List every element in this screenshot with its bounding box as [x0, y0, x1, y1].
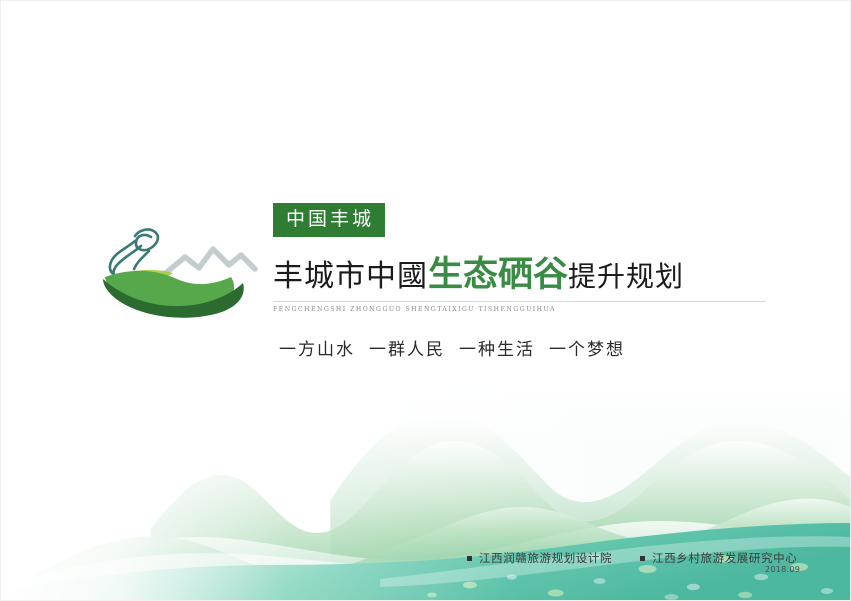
credit-label-2: 江西乡村旅游发展研究中心: [652, 550, 797, 566]
title-block: 中国丰城 丰城市中國生态硒谷提升规划 FENGCHENGSHI ZHONGGUO…: [273, 203, 773, 313]
tagline-item-1: 一方山水: [279, 340, 355, 360]
credit-label-1: 江西润赣旅游规划设计院: [479, 550, 612, 566]
title-pinyin: FENGCHENGSHI ZHONGGUO SHENGTAIXIGU TISHE…: [273, 306, 773, 313]
landscape-artwork: [1, 381, 850, 601]
region-badge: 中国丰城: [273, 203, 385, 237]
cover-page: 中国丰城 丰城市中國生态硒谷提升规划 FENGCHENGSHI ZHONGGUO…: [0, 0, 851, 601]
page-title: 丰城市中國生态硒谷提升规划: [273, 246, 773, 297]
tagline: 一方山水一群人民一种生活一个梦想: [279, 335, 625, 360]
date-stamp: 2018.09: [765, 565, 800, 574]
tagline-item-2: 一群人民: [369, 340, 445, 360]
credit-item-2: 江西乡村旅游发展研究中心: [640, 550, 797, 566]
title-part-one: 丰城市中國: [273, 259, 428, 294]
credits-row: 江西润赣旅游规划设计院 江西乡村旅游发展研究中心: [467, 550, 797, 566]
brand-logo: [89, 213, 269, 318]
tagline-item-4: 一个梦想: [549, 340, 625, 360]
title-part-two: 提升规划: [568, 260, 684, 293]
square-bullet-icon: [467, 556, 472, 561]
title-divider: [273, 301, 766, 302]
credit-item-1: 江西润赣旅游规划设计院: [467, 550, 612, 566]
logo-mountain-outline: [161, 249, 255, 277]
tagline-item-3: 一种生活: [459, 340, 535, 360]
square-bullet-icon: [640, 556, 645, 561]
title-highlight: 生态硒谷: [428, 254, 568, 295]
